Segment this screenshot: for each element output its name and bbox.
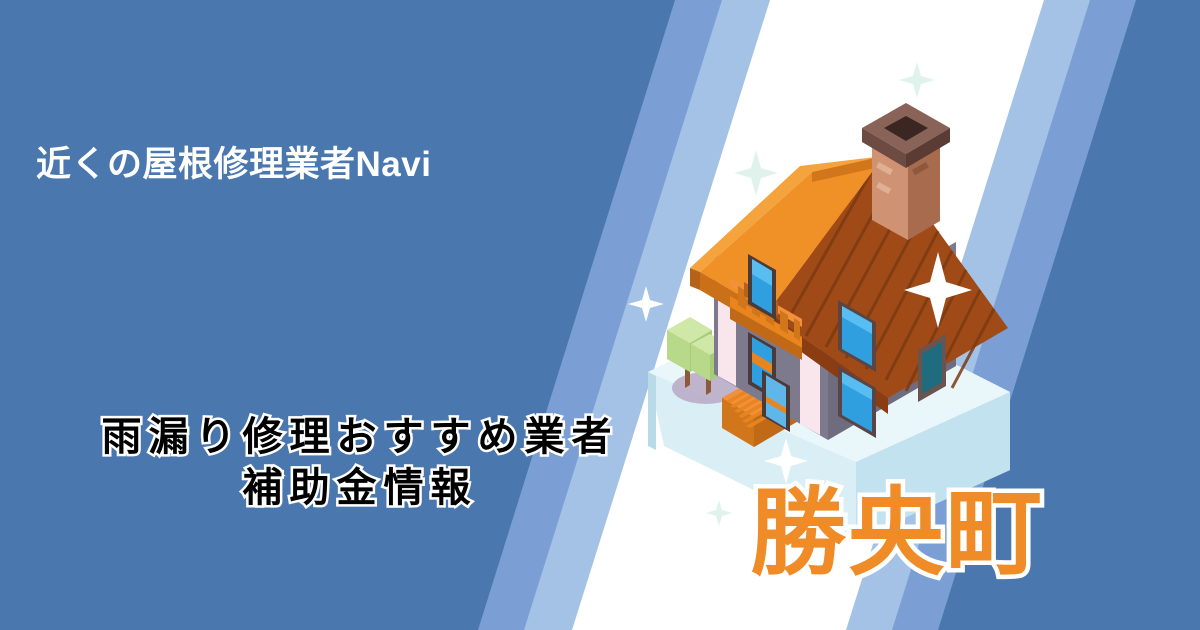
site-title: 近くの屋根修理業者Navi (36, 136, 431, 187)
sparkle-top (899, 62, 935, 98)
place-name: 勝央町 (750, 455, 1044, 594)
sparkle-top-left (734, 150, 778, 196)
sparkle-left (628, 286, 664, 322)
headline-block: 雨漏り修理おすすめ業者 補助金情報 (0, 412, 720, 514)
chimney (862, 103, 950, 240)
banner-canvas: 近くの屋根修理業者Navi 雨漏り修理おすすめ業者 補助金情報 勝央町 (0, 0, 1200, 630)
headline-line-2: 補助金情報 (0, 463, 720, 514)
headline-line-1: 雨漏り修理おすすめ業者 (0, 412, 720, 463)
